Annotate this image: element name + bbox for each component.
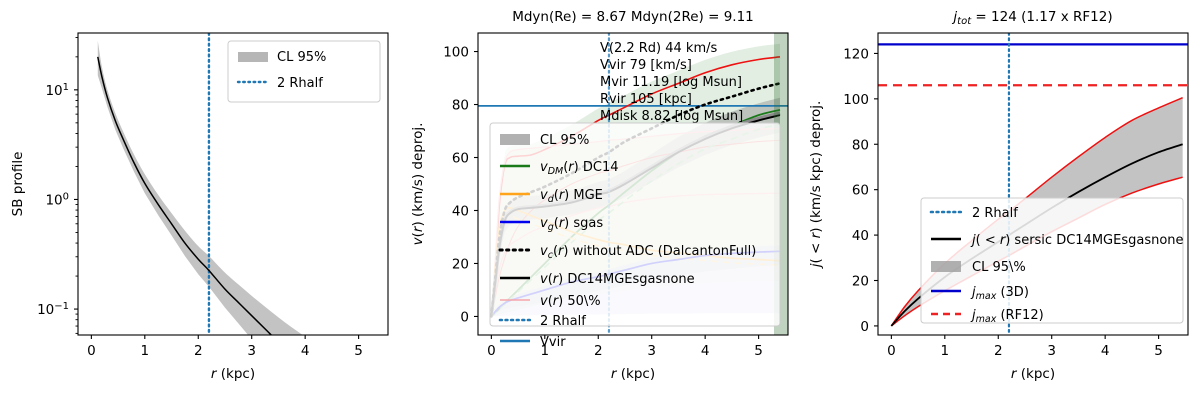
panel-title: jtot = 124 (1.17 x RF12) xyxy=(951,9,1112,27)
x-tick-label: 0 xyxy=(887,343,896,359)
x-tick-label: 2 xyxy=(994,343,1003,359)
legend-box xyxy=(490,123,780,326)
x-tick-label: 2 xyxy=(194,343,203,359)
legend-label-cl95: CL 95\% xyxy=(972,260,1026,275)
y-axis-label: j( < r) (km/s kpc) deproj. xyxy=(808,101,824,270)
y-tick-label: 100 xyxy=(843,92,869,108)
panel-rotation-curve: 012345020406080100 Mdyn(Re) = 8.67 Mdyn(… xyxy=(400,0,800,400)
annot-line-1: Vvir 79 [km/s] xyxy=(600,58,692,73)
legend-label-2rhalf: 2 Rhalf xyxy=(277,76,323,91)
x-tick-label: 4 xyxy=(1101,343,1110,359)
legend-label-cl95: CL 95% xyxy=(277,50,326,65)
y-tick-label: 10−1 xyxy=(37,301,69,318)
y-tick-label: 20 xyxy=(852,274,869,290)
figure-canvas: 01234510−1100101 r (kpc) SB profile CL 9… xyxy=(0,0,1200,400)
sb-profile-chart: 01234510−1100101 r (kpc) SB profile CL 9… xyxy=(0,0,400,400)
annot-line-4: Mdisk 8.82 [log Msun] xyxy=(600,109,743,124)
y-tick-label: 120 xyxy=(843,46,869,62)
x-tick-label: 3 xyxy=(1047,343,1056,359)
legend-box xyxy=(921,198,1183,323)
x-axis-label: r (kpc) xyxy=(611,366,655,382)
y-axis-label: v(r) (km/s) deproj. xyxy=(410,123,426,246)
x-axis-label: r (kpc) xyxy=(211,366,255,382)
annot-line-3: Rvir 105 [kpc] xyxy=(600,92,692,107)
x-axis-label: r (kpc) xyxy=(1011,366,1055,382)
legend-label-2rhalf: 2 Rhalf xyxy=(972,206,1018,221)
panel-angular-momentum: 012345020406080100120 jtot = 124 (1.17 x… xyxy=(800,0,1200,400)
x-tick-label: 5 xyxy=(1154,343,1163,359)
y-tick-label: 80 xyxy=(452,98,469,114)
x-tick-label: 0 xyxy=(87,343,96,359)
y-tick-label: 80 xyxy=(852,137,869,153)
y-tick-label: 0 xyxy=(860,319,869,335)
x-tick-label: 4 xyxy=(301,343,310,359)
legend-label-jr: j( < r) sersic DC14MGEsgasnone xyxy=(970,233,1184,248)
x-tick-label: 2 xyxy=(594,343,603,359)
x-tick-label: 5 xyxy=(754,343,763,359)
y-tick-label: 40 xyxy=(852,228,869,244)
y-axis-label: SB profile xyxy=(10,152,26,217)
y-tick-label: 60 xyxy=(852,183,869,199)
legend-label-v50: v(r) 50\% xyxy=(540,294,601,309)
y-tick-label: 100 xyxy=(443,45,469,61)
x-tick-label: 4 xyxy=(701,343,710,359)
legend-label-v: v(r) DC14MGEsgasnone xyxy=(540,272,695,287)
legend-label-vvir: Vvir xyxy=(540,335,566,350)
legend-sb-profile[interactable]: CL 95% 2 Rhalf xyxy=(228,41,380,102)
y-tick-label: 60 xyxy=(452,151,469,167)
legend-swatch-band xyxy=(931,261,961,272)
panel-title: Mdyn(Re) = 8.67 Mdyn(2Re) = 9.11 xyxy=(512,9,754,25)
x-tick-label: 3 xyxy=(647,343,656,359)
legend-label-vc: vc(r) without ADC (DalcantonFull) xyxy=(540,244,756,261)
angular-momentum-chart: 012345020406080100120 jtot = 124 (1.17 x… xyxy=(800,0,1200,400)
rotation-curve-chart: 012345020406080100 Mdyn(Re) = 8.67 Mdyn(… xyxy=(400,0,800,400)
y-tick-label: 40 xyxy=(452,203,469,219)
legend-swatch-band xyxy=(500,134,530,145)
x-tick-label: 0 xyxy=(487,343,496,359)
y-tick-label: 100 xyxy=(45,191,69,208)
x-tick-label: 1 xyxy=(141,343,150,359)
legend-rotation-curve[interactable]: CL 95% vDM(r) DC14 vd(r) MGE vg(r) sgas … xyxy=(490,123,780,350)
legend-label-2rhalf: 2 Rhalf xyxy=(540,314,586,329)
annot-line-0: V(2.2 Rd) 44 km/s xyxy=(600,41,718,56)
y-tick-label: 101 xyxy=(45,82,69,99)
annot-line-2: Mvir 11.19 [log Msun] xyxy=(600,75,742,90)
panel-sb-profile: 01234510−1100101 r (kpc) SB profile CL 9… xyxy=(0,0,400,400)
legend-swatch-band xyxy=(238,52,268,62)
x-tick-label: 5 xyxy=(354,343,363,359)
x-tick-label: 1 xyxy=(941,343,950,359)
legend-label-cl95: CL 95% xyxy=(540,133,589,148)
legend-angular-momentum[interactable]: 2 Rhalf j( < r) sersic DC14MGEsgasnone C… xyxy=(921,198,1184,325)
y-tick-label: 20 xyxy=(452,256,469,272)
y-tick-label: 0 xyxy=(460,309,469,325)
x-tick-label: 3 xyxy=(247,343,256,359)
